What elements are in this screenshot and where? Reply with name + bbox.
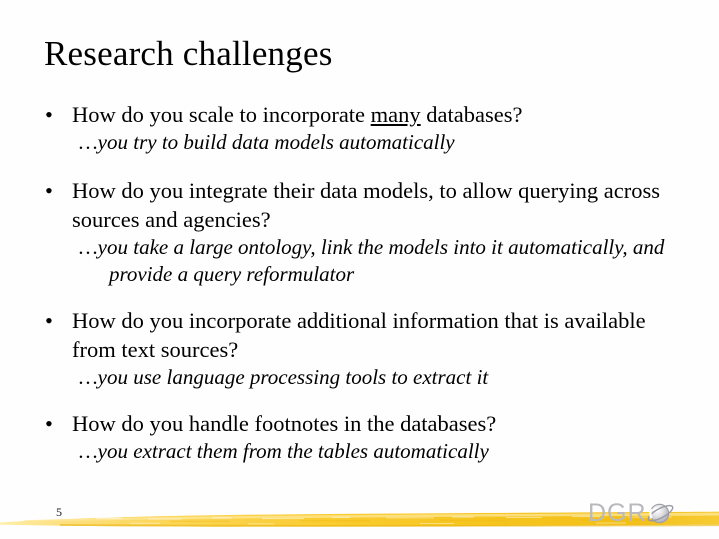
bullet-text-before: How do you incorporate additional inform…: [72, 308, 646, 362]
bullet-dot-icon: •: [45, 176, 53, 205]
bullet-main-line: • How do you integrate their data models…: [0, 176, 719, 234]
bullet-subtext: …you extract them from the tables automa…: [0, 438, 719, 465]
bullet-text: How do you incorporate additional inform…: [72, 308, 646, 362]
presentation-slide: Research challenges • How do you scale t…: [0, 0, 719, 539]
globe-icon: [646, 500, 676, 528]
bullet-text-before: How do you integrate their data models, …: [72, 178, 660, 232]
bullet-main-line: • How do you incorporate additional info…: [0, 306, 719, 364]
page-number: 5: [56, 505, 62, 519]
bullet-main-line: • How do you scale to incorporate many d…: [0, 100, 719, 129]
logo: DGR: [588, 498, 688, 530]
bullet-dot-icon: •: [45, 409, 53, 438]
bullet-item: • How do you scale to incorporate many d…: [0, 100, 719, 156]
bullet-dot-icon: •: [45, 306, 53, 335]
bullet-text-before: How do you handle footnotes in the datab…: [72, 411, 496, 436]
bullet-list: • How do you scale to incorporate many d…: [0, 100, 719, 465]
bullet-text-before: How do you scale to incorporate: [72, 102, 371, 127]
logo-text: DGR: [588, 498, 647, 528]
bullet-subtext: …you take a large ontology, link the mod…: [0, 234, 719, 288]
bullet-text-emphasis: many: [371, 102, 421, 127]
bullet-item: • How do you handle footnotes in the dat…: [0, 409, 719, 465]
bullet-item: • How do you incorporate additional info…: [0, 306, 719, 391]
bullet-text: How do you scale to incorporate many dat…: [72, 102, 523, 127]
bullet-item: • How do you integrate their data models…: [0, 176, 719, 288]
bullet-subtext: …you try to build data models automatica…: [0, 129, 719, 156]
page-title: Research challenges: [44, 33, 333, 75]
bullet-main-line: • How do you handle footnotes in the dat…: [0, 409, 719, 438]
bullet-dot-icon: •: [45, 100, 53, 129]
bullet-text-after: databases?: [421, 102, 523, 127]
bullet-text: How do you integrate their data models, …: [72, 178, 660, 232]
bullet-text: How do you handle footnotes in the datab…: [72, 411, 496, 436]
bullet-subtext: …you use language processing tools to ex…: [0, 364, 719, 391]
